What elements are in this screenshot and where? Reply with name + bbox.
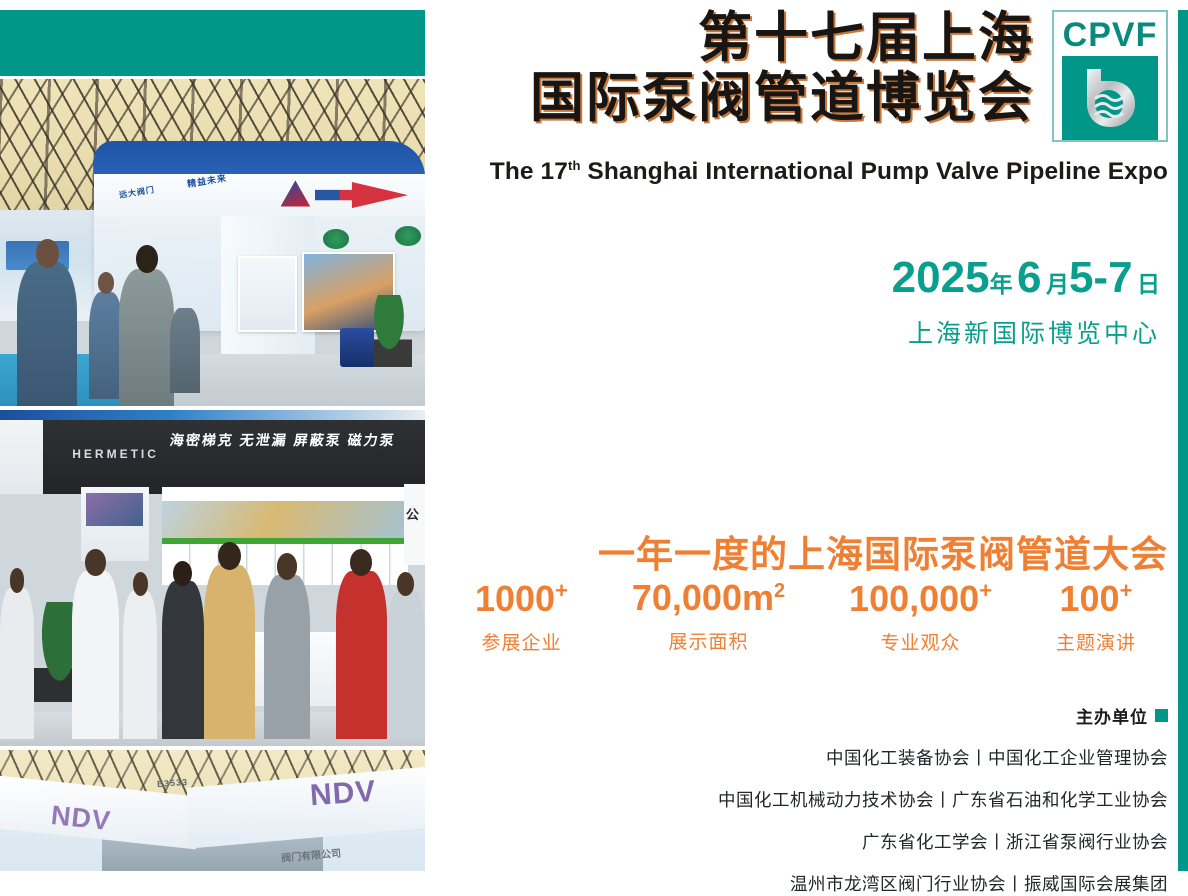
yuanda-valve-booth-photo: 远大阀门 精益未来 xyxy=(0,79,425,406)
title-row: 第十七届上海 国际泵阀管道博览会 CPVF xyxy=(425,8,1168,142)
ndv-booth-photo: NDV NDV E3533 阀门有限公司 xyxy=(0,750,425,871)
visitor-figure xyxy=(162,581,205,739)
visitor-figure xyxy=(387,591,425,739)
hermetic-booth-crowd-photo: HERMETIC 海密梯克 无泄漏 屏蔽泵 磁力泵 公 xyxy=(0,410,425,746)
stat-item: 100,000+ 专业观众 xyxy=(849,580,992,655)
booth-fascia-blue xyxy=(94,141,426,177)
stat-item: 70,000m2 展示面积 xyxy=(632,580,785,654)
english-subtitle: The 17th Shanghai International Pump Val… xyxy=(490,158,1168,186)
stat-value: 100,000+ xyxy=(849,580,992,617)
stat-number: 1000 xyxy=(475,578,555,619)
visitor-figure xyxy=(17,262,77,406)
teal-right-rail xyxy=(1178,10,1188,871)
visitor-figure xyxy=(264,575,311,740)
stat-label: 专业观众 xyxy=(849,628,992,655)
pump-impeller-icon xyxy=(1062,56,1158,140)
stat-value: 100+ xyxy=(1056,580,1136,617)
neighbour-logo-2 xyxy=(395,226,421,246)
date-day-unit: 日 xyxy=(1137,271,1160,297)
neighbour-logo-1 xyxy=(323,229,349,249)
venue-name: 上海新国际博览中心 xyxy=(908,314,1160,350)
stat-suffix: + xyxy=(1120,578,1133,603)
visitor-figure xyxy=(336,571,387,739)
visitor-figure xyxy=(123,591,157,739)
ndv-wordmark: NDV xyxy=(50,800,113,837)
booth-banner-text: 海密梯克 无泄漏 屏蔽泵 磁力泵 xyxy=(169,430,397,450)
stat-label: 展示面积 xyxy=(632,627,785,654)
neighbour-booth-text: 公 xyxy=(406,504,419,523)
date-year-unit: 年 xyxy=(990,271,1013,297)
organizer-line: 中国化工装备协会丨中国化工企业管理协会 xyxy=(718,745,1168,770)
backdrop-header xyxy=(162,487,409,500)
stat-number: 100,000 xyxy=(849,578,979,619)
visitor-figure xyxy=(204,565,255,740)
hermetic-wordmark: HERMETIC xyxy=(72,447,159,461)
stat-value: 70,000m2 xyxy=(632,580,785,616)
stat-number: 100 xyxy=(1060,578,1120,619)
neighbour-booth-wall xyxy=(404,484,425,565)
visitor-figure xyxy=(170,308,200,393)
visitor-figure xyxy=(119,269,174,406)
stat-label: 参展企业 xyxy=(475,628,568,655)
event-date: 2025年 6 月5-7 日 xyxy=(892,253,1160,303)
organizer-line: 温州市龙湾区阀门行业协会丨振威国际会展集团 xyxy=(718,871,1168,896)
page-title: 第十七届上海 国际泵阀管道博览会 xyxy=(530,8,1034,129)
cpvf-logo: CPVF xyxy=(1052,10,1168,142)
blue-valve-exhibit xyxy=(340,328,374,367)
stat-superscript: 2 xyxy=(774,580,785,602)
green-accent-bar xyxy=(162,538,409,545)
organizers-heading-row: 主办单位 xyxy=(718,703,1168,728)
booth-panel-left xyxy=(238,256,297,332)
organizers-block: 主办单位 中国化工装备协会丨中国化工企业管理协会 中国化工机械动力技术协会丨广东… xyxy=(718,703,1168,896)
stat-number: 70,000m xyxy=(632,577,774,618)
organizer-line: 广东省化工学会丨浙江省泵阀行业协会 xyxy=(718,829,1168,854)
visitor-figure xyxy=(0,588,34,739)
organizer-line: 中国化工机械动力技术协会丨广东省石油和化学工业协会 xyxy=(718,787,1168,812)
stat-item: 1000+ 参展企业 xyxy=(475,580,568,655)
booth-number-label: E3533 xyxy=(157,777,189,789)
cpvf-logo-text: CPVF xyxy=(1062,18,1158,52)
stat-suffix: + xyxy=(979,578,992,603)
date-month-unit: 月 xyxy=(1046,271,1069,297)
date-month: 6 xyxy=(1017,253,1041,302)
event-headline: 一年一度的上海国际泵阀管道大会 xyxy=(598,524,1168,578)
date-year: 2025 xyxy=(892,253,990,302)
photo-column: 远大阀门 精益未来 HERMETIC 海密梯克 无泄漏 屏蔽泵 磁力泵 xyxy=(0,0,425,871)
content-column: 第十七届上海 国际泵阀管道博览会 CPVF xyxy=(425,0,1188,871)
title-line-2: 国际泵阀管道博览会 xyxy=(530,68,1034,128)
stat-value: 1000+ xyxy=(475,580,568,617)
english-subtitle-pre: The 17 xyxy=(490,158,568,185)
ndv-wordmark: NDV xyxy=(309,774,378,813)
organizers-heading: 主办单位 xyxy=(1076,703,1148,728)
stat-suffix: + xyxy=(555,578,568,603)
teal-header-block xyxy=(0,10,425,76)
statistics-row: 1000+ 参展企业 70,000m2 展示面积 100,000+ 专业观众 1… xyxy=(443,580,1168,655)
english-subtitle-ordinal: th xyxy=(568,158,580,173)
title-line-1: 第十七届上海 xyxy=(530,8,1034,68)
date-days: 5-7 xyxy=(1069,253,1133,302)
teal-square-marker xyxy=(1155,709,1168,722)
english-subtitle-post: Shanghai International Pump Valve Pipeli… xyxy=(581,158,1169,185)
stat-item: 100+ 主题演讲 xyxy=(1056,580,1136,655)
visitor-figure xyxy=(72,571,119,739)
stat-label: 主题演讲 xyxy=(1056,628,1136,655)
